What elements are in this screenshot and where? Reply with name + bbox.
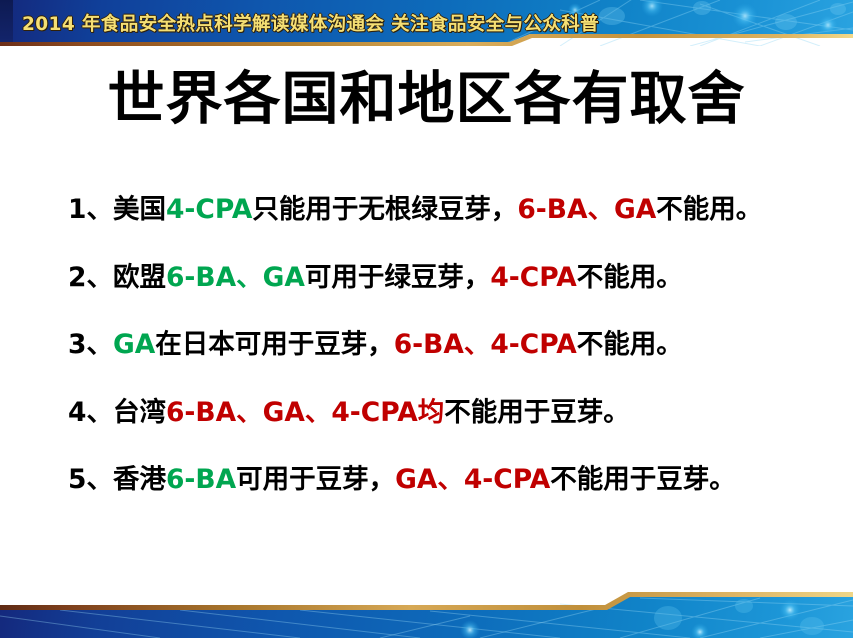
bullet-segment-black: 在日本可用于豆芽， bbox=[155, 329, 394, 360]
bullet-segment-black: 台湾 bbox=[113, 397, 166, 428]
bullet-segment-green: GA bbox=[113, 329, 155, 360]
bullet-segment-red: 6-BA、GA、4-CPA均 bbox=[166, 397, 444, 428]
bullet-segment-black: 可用于绿豆芽， bbox=[305, 262, 491, 293]
bullet-segment-red: 4-CPA bbox=[490, 262, 576, 293]
footer-banner bbox=[0, 586, 853, 638]
bullet-segment-red: GA、4-CPA bbox=[395, 464, 550, 495]
bullet-number: 3、 bbox=[68, 329, 113, 360]
bullet-segment-black: 不能用于豆芽。 bbox=[550, 464, 736, 495]
bullet-segment-green: 4-CPA bbox=[166, 194, 252, 225]
page-title: 世界各国和地区各有取舍 bbox=[0, 64, 853, 134]
bullet-segment-black: 可用于豆芽， bbox=[236, 464, 395, 495]
bullet-segment-green: 6-BA、GA bbox=[166, 262, 305, 293]
bullet-segment-black: 只能用于无根绿豆芽， bbox=[252, 194, 517, 225]
bullet-segment-red: 6-BA、4-CPA bbox=[394, 329, 577, 360]
bullet-line: 4、台湾6-BA、GA、4-CPA均不能用于豆芽。 bbox=[68, 400, 828, 427]
bullet-number: 1、 bbox=[68, 194, 113, 225]
bullet-segment-black: 不能用。 bbox=[577, 262, 683, 293]
bullet-line: 5、香港6-BA可用于豆芽，GA、4-CPA不能用于豆芽。 bbox=[68, 467, 828, 494]
slide-canvas: 2014 年食品安全热点科学解读媒体沟通会 关注食品安全与公众科普 世界各国和地… bbox=[0, 0, 853, 638]
bullet-line: 3、GA在日本可用于豆芽，6-BA、4-CPA不能用。 bbox=[68, 332, 828, 359]
bullet-segment-green: 6-BA bbox=[166, 464, 236, 495]
bullet-segment-black: 不能用。 bbox=[577, 329, 683, 360]
bullet-line: 2、欧盟6-BA、GA可用于绿豆芽，4-CPA不能用。 bbox=[68, 265, 828, 292]
bullet-segment-black: 不能用。 bbox=[656, 194, 762, 225]
bullet-number: 2、 bbox=[68, 262, 113, 293]
bullet-segment-black: 欧盟 bbox=[113, 262, 166, 293]
conference-banner-title: 2014 年食品安全热点科学解读媒体沟通会 关注食品安全与公众科普 bbox=[22, 10, 599, 36]
bullet-segment-red: 6-BA、GA bbox=[517, 194, 656, 225]
bullet-list: 1、美国4-CPA只能用于无根绿豆芽，6-BA、GA不能用。2、欧盟6-BA、G… bbox=[68, 197, 828, 494]
header-left-navy-block bbox=[0, 0, 13, 42]
bullet-segment-black: 不能用于豆芽。 bbox=[444, 397, 630, 428]
header-banner: 2014 年食品安全热点科学解读媒体沟通会 关注食品安全与公众科普 bbox=[0, 0, 853, 46]
bullet-line: 1、美国4-CPA只能用于无根绿豆芽，6-BA、GA不能用。 bbox=[68, 197, 828, 224]
bullet-number: 5、 bbox=[68, 464, 113, 495]
bullet-segment-black: 美国 bbox=[113, 194, 166, 225]
bullet-segment-black: 香港 bbox=[113, 464, 166, 495]
bullet-number: 4、 bbox=[68, 397, 113, 428]
